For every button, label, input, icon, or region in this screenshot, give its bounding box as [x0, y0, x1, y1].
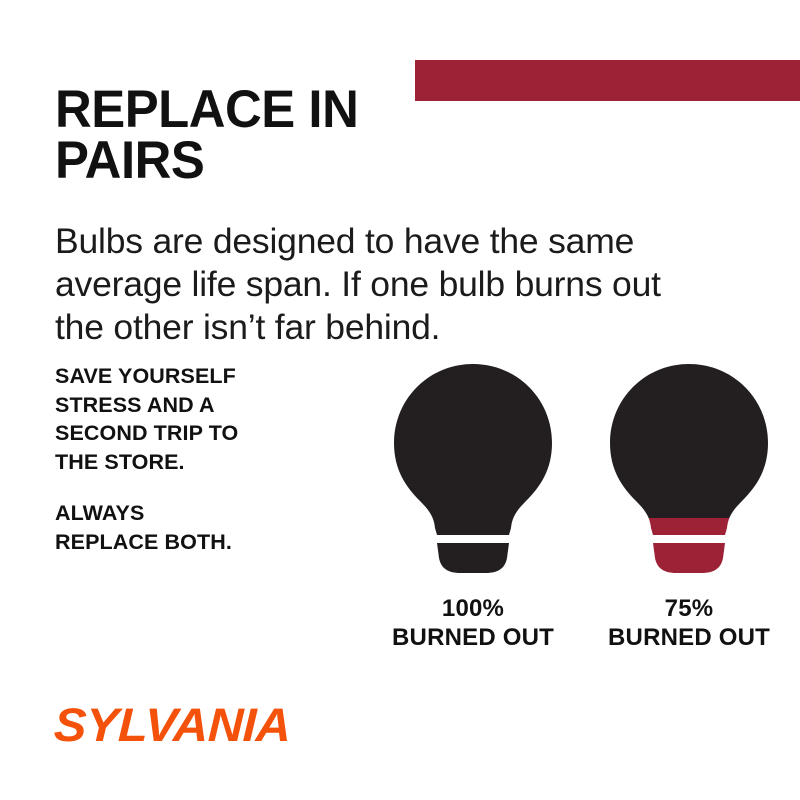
bulb-base-shape-red: [653, 543, 725, 573]
intro-paragraph: Bulbs are designed to have the same aver…: [55, 220, 725, 350]
callout-1-line-3: SECOND TRIP TO: [55, 419, 355, 448]
bulb-caption-75-percent: 75% BURNED OUT: [589, 594, 789, 653]
bulb-neck-red-region: [589, 518, 789, 577]
bulb-caption-1-status: BURNED OUT: [373, 623, 573, 652]
callout-column: SAVE YOURSELF STRESS AND A SECOND TRIP T…: [55, 362, 355, 557]
infographic-canvas: REPLACE IN PAIRS Bulbs are designed to h…: [0, 0, 800, 800]
bulb-figure-100-percent: 100% BURNED OUT: [373, 362, 573, 662]
bulb-glass-dark-region: [589, 362, 789, 518]
callout-always-replace-both: ALWAYS REPLACE BOTH.: [55, 499, 355, 556]
callout-1-line-4: THE STORE.: [55, 448, 355, 477]
bulb-figure-75-percent: 75% BURNED OUT: [589, 362, 789, 662]
callout-save-yourself: SAVE YOURSELF STRESS AND A SECOND TRIP T…: [55, 362, 355, 476]
intro-paragraph-line-1: Bulbs are designed to have the same: [55, 220, 725, 263]
sylvania-logo: SYLVANIA: [53, 697, 292, 752]
bulb-caption-100-percent: 100% BURNED OUT: [373, 594, 573, 653]
headline-line-1: REPLACE IN: [55, 84, 401, 136]
bulb-base-shape: [437, 543, 509, 573]
bulb-glass-shape: [394, 364, 552, 535]
callout-1-line-2: STRESS AND A: [55, 391, 355, 420]
light-bulb-partial-icon: [589, 362, 789, 577]
headline-accent-bar: [415, 60, 800, 101]
headline-line-2: PAIRS: [55, 135, 401, 187]
bulb-caption-2-status: BURNED OUT: [589, 623, 789, 652]
callout-2-line-1: ALWAYS: [55, 499, 355, 528]
callout-2-line-2: REPLACE BOTH.: [55, 528, 355, 557]
bulb-caption-1-percent: 100%: [373, 594, 573, 623]
page-title: REPLACE IN PAIRS: [55, 84, 401, 188]
callout-1-line-1: SAVE YOURSELF: [55, 362, 355, 391]
bulb-caption-2-percent: 75%: [589, 594, 789, 623]
bulb-glass-shape-partial: [589, 362, 789, 577]
light-bulb-icon: [373, 362, 573, 577]
intro-paragraph-line-3: the other isn’t far behind.: [55, 306, 725, 349]
intro-paragraph-line-2: average life span. If one bulb burns out: [55, 263, 725, 306]
